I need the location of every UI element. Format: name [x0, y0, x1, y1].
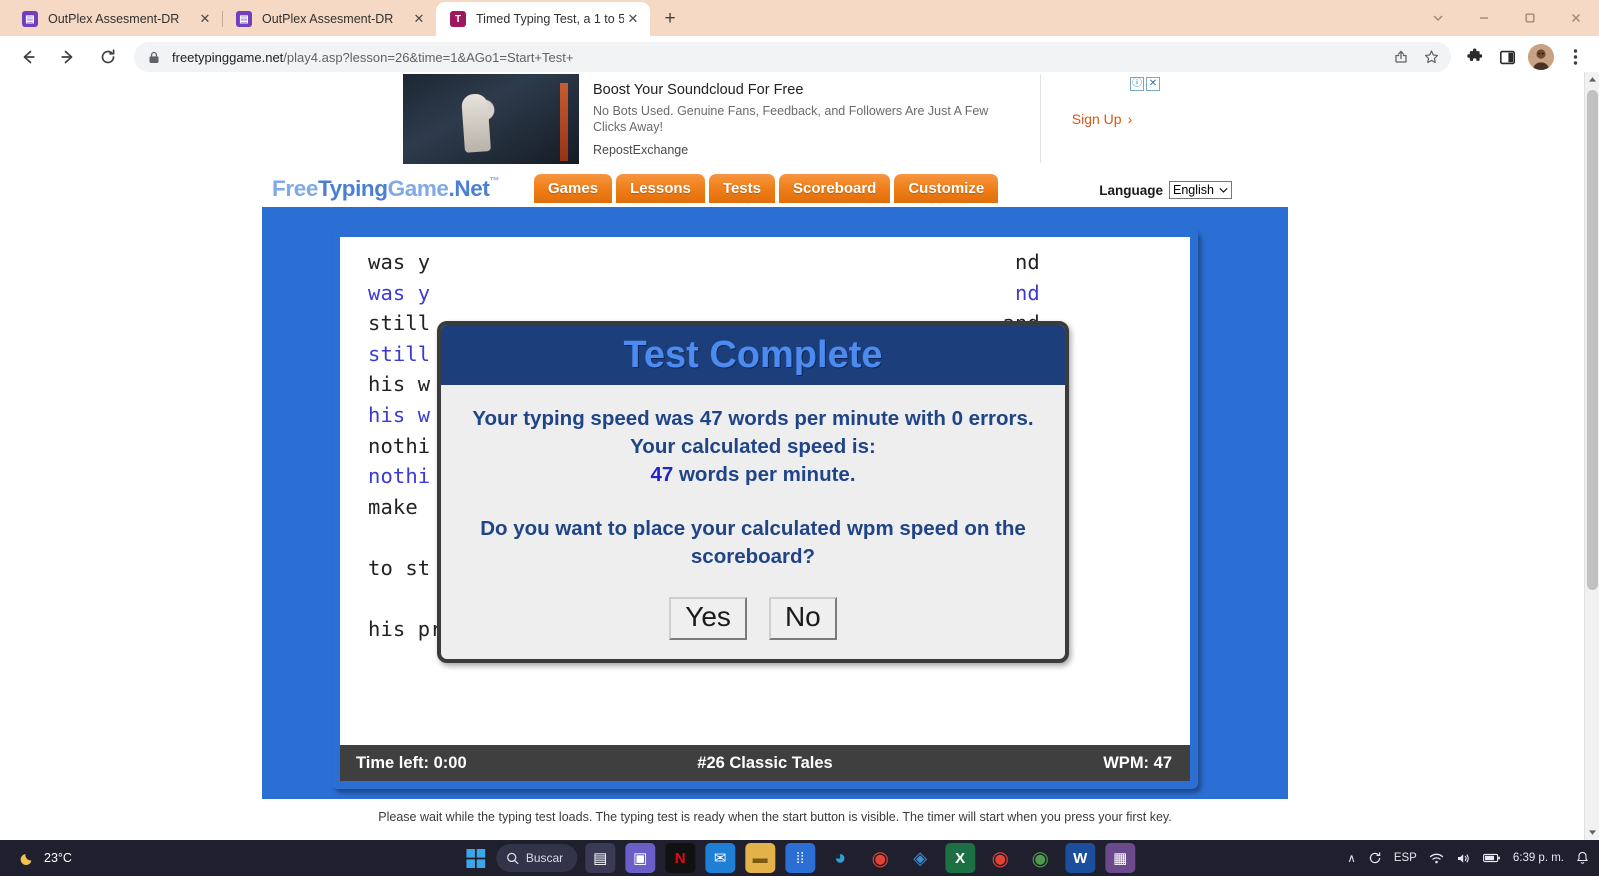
ad-close-icon[interactable]: ✕: [1146, 77, 1160, 91]
tab-close-icon[interactable]: ✕: [410, 10, 428, 28]
chrome-profile1-icon[interactable]: ◉: [985, 843, 1015, 873]
tab-title: OutPlex Assesment-DR: [48, 12, 196, 26]
ad-headline: Boost Your Soundcloud For Free: [593, 82, 1028, 98]
search-icon: [506, 852, 519, 865]
dialog-question: Do you want to place your calculated wpm…: [463, 515, 1043, 571]
scroll-up-arrow-icon[interactable]: [1585, 72, 1599, 87]
notification-bell-icon[interactable]: [1576, 851, 1589, 865]
lesson-label: #26 Classic Tales: [621, 754, 910, 773]
url-domain: freetypinggame.net: [172, 50, 283, 65]
browser-tab-1[interactable]: ▤ OutPlex Assesment-DR ✕: [8, 2, 222, 36]
language-dropdown[interactable]: English: [1169, 181, 1232, 199]
logo-part-2: Typing: [318, 176, 388, 201]
reload-icon[interactable]: [91, 40, 125, 74]
outplex-icon: ▤: [236, 11, 252, 27]
sync-icon[interactable]: [1368, 851, 1382, 865]
nav-tab-games[interactable]: Games: [534, 174, 612, 203]
typing-line-typed: was y nd: [368, 281, 1040, 305]
windows-taskbar: 23°C Buscar ▤ ▣ N ✉ ▬ ⁞⁞ ◕ ◉ ◈ X ◉ ◉: [0, 840, 1599, 876]
taskbar-clock[interactable]: 6:39 p. m.: [1513, 852, 1564, 865]
yes-button[interactable]: Yes: [669, 597, 747, 640]
battery-icon[interactable]: [1483, 852, 1501, 864]
extensions-puzzle-icon[interactable]: [1459, 40, 1491, 74]
mail-icon[interactable]: ✉: [705, 843, 735, 873]
no-button[interactable]: No: [769, 597, 837, 640]
language-selector: Language English: [1099, 181, 1232, 199]
ad-description: No Bots Used. Genuine Fans, Feedback, an…: [593, 103, 1013, 135]
nav-tab-scoreboard[interactable]: Scoreboard: [779, 174, 890, 203]
three-dot-menu-icon[interactable]: [1559, 40, 1591, 74]
url-text: freetypinggame.net/play4.asp?lesson=26&t…: [172, 50, 573, 65]
ad-cta-label: Sign Up: [1072, 111, 1122, 127]
file-explorer-icon[interactable]: ▤: [585, 843, 615, 873]
site-header: FreeTypingGame.Net™ Games Lessons Tests …: [262, 168, 1288, 211]
typing-icon: T: [450, 11, 466, 27]
taskbar-weather[interactable]: 23°C: [0, 850, 72, 866]
browser-tab-2[interactable]: ▤ OutPlex Assesment-DR ✕: [222, 2, 436, 36]
logo-part-3: Game: [388, 176, 449, 201]
share-icon[interactable]: [1387, 43, 1415, 71]
chrome-profile2-icon[interactable]: ◉: [1025, 843, 1055, 873]
photos-icon[interactable]: ◈: [905, 843, 935, 873]
language-selected-value: English: [1173, 183, 1214, 197]
back-arrow-icon[interactable]: [11, 40, 45, 74]
chevron-right-icon: ›: [1128, 111, 1133, 127]
star-icon[interactable]: [1417, 43, 1445, 71]
tab-strip: ▤ OutPlex Assesment-DR ✕ ▤ OutPlex Asses…: [0, 0, 1599, 36]
chrome-icon[interactable]: ◉: [865, 843, 895, 873]
ad-badges: ⓘ ✕: [1130, 77, 1160, 91]
chevron-down-icon: [1219, 187, 1228, 194]
dialog-wpm-value: 47: [700, 407, 723, 430]
url-path: /play4.asp?lesson=26&time=1&AGo1=Start+T…: [283, 50, 573, 65]
typing-status-bar: Time left: 0:00 #26 Classic Tales WPM: 4…: [340, 745, 1190, 781]
side-panel-icon[interactable]: [1491, 40, 1523, 74]
tray-overflow-icon[interactable]: ∧: [1347, 851, 1355, 865]
nav-tab-tests[interactable]: Tests: [709, 174, 775, 203]
netflix-icon[interactable]: N: [665, 843, 695, 873]
test-complete-dialog: Test Complete Your typing speed was 47 w…: [437, 321, 1069, 663]
maximize-icon[interactable]: [1507, 0, 1553, 36]
nav-tab-lessons[interactable]: Lessons: [616, 174, 705, 203]
browser-tab-3-active[interactable]: T Timed Typing Test, a 1 to 5 minut ✕: [436, 2, 650, 36]
typing-line: was y nd: [368, 250, 1040, 274]
logo-part-4: .Net: [449, 176, 490, 201]
logo-part-1: Free: [272, 176, 318, 201]
wait-note: Please wait while the typing test loads.…: [262, 810, 1288, 824]
windows-start-icon[interactable]: [462, 844, 490, 872]
nav-tab-customize[interactable]: Customize: [894, 174, 998, 203]
wpm-label: WPM: 47: [910, 754, 1191, 773]
dialog-calculated-suffix: words per minute.: [673, 463, 855, 486]
logo-trademark: ™: [489, 176, 499, 187]
calculator-icon[interactable]: ▦: [1105, 843, 1135, 873]
omnibox-actions: [1387, 43, 1445, 71]
dialog-body: Your typing speed was 47 words per minut…: [441, 385, 1065, 640]
search-placeholder: Buscar: [526, 851, 563, 865]
profile-avatar[interactable]: [1528, 44, 1554, 70]
volume-icon[interactable]: [1456, 852, 1471, 865]
tab-search-icon[interactable]: [1415, 0, 1461, 36]
wifi-icon[interactable]: [1429, 852, 1444, 865]
minimize-icon[interactable]: [1461, 0, 1507, 36]
apps-grid-icon[interactable]: ⁞⁞: [785, 843, 815, 873]
tab-close-icon[interactable]: ✕: [196, 10, 214, 28]
taskbar-center: Buscar ▤ ▣ N ✉ ▬ ⁞⁞ ◕ ◉ ◈ X ◉ ◉ W ▦: [462, 843, 1137, 873]
taskbar-search-box[interactable]: Buscar: [496, 844, 577, 872]
scrollbar-thumb[interactable]: [1587, 90, 1598, 590]
ad-text-block: Boost Your Soundcloud For Free No Bots U…: [579, 74, 1040, 163]
time-left-label: Time left: 0:00: [340, 754, 621, 773]
site-nav-tabs: Games Lessons Tests Scoreboard Customize: [534, 174, 998, 203]
site-logo[interactable]: FreeTypingGame.Net™: [272, 176, 499, 202]
folder-icon[interactable]: ▬: [745, 843, 775, 873]
page-scrollbar[interactable]: [1584, 72, 1599, 840]
lock-icon: [146, 49, 162, 65]
nav-bottom-rule: [262, 207, 1288, 213]
dialog-result-line: Your typing speed was 47 words per minut…: [463, 405, 1043, 461]
dialog-text-mid: words per minute with: [723, 407, 952, 430]
dialog-text-pre: Your typing speed was: [472, 407, 699, 430]
taskbar-tray: ∧ ESP 6:39 p. m.: [1347, 851, 1589, 865]
tab-close-icon[interactable]: ✕: [624, 10, 642, 28]
language-indicator[interactable]: ESP: [1394, 852, 1417, 864]
dialog-calculated-line: 47 words per minute.: [463, 461, 1043, 489]
page-viewport: Boost Your Soundcloud For Free No Bots U…: [0, 72, 1599, 840]
outplex-icon: ▤: [22, 11, 38, 27]
dialog-buttons: Yes No: [463, 597, 1043, 640]
dialog-calculated-wpm: 47: [650, 463, 673, 486]
weather-temp: 23°C: [44, 851, 72, 865]
window-controls: [1415, 0, 1599, 36]
dialog-title: Test Complete: [441, 325, 1065, 385]
moon-icon: [20, 850, 36, 866]
address-bar[interactable]: freetypinggame.net/play4.asp?lesson=26&t…: [134, 42, 1451, 72]
dialog-errors-value: 0: [952, 407, 963, 430]
teams-icon[interactable]: ▣: [625, 843, 655, 873]
ad-image: [403, 74, 579, 164]
scroll-down-arrow-icon[interactable]: [1585, 825, 1599, 840]
ad-brand: RepostExchange: [593, 143, 1028, 157]
ad-info-icon[interactable]: ⓘ: [1130, 77, 1144, 91]
excel-icon[interactable]: X: [945, 843, 975, 873]
tab-title: OutPlex Assesment-DR: [262, 12, 410, 26]
ad-banner[interactable]: Boost Your Soundcloud For Free No Bots U…: [403, 74, 1163, 164]
language-label: Language: [1099, 183, 1163, 198]
tab-title: Timed Typing Test, a 1 to 5 minut: [476, 12, 624, 26]
forward-arrow-icon[interactable]: [51, 40, 85, 74]
close-icon[interactable]: [1553, 0, 1599, 36]
edge-icon[interactable]: ◕: [825, 843, 855, 873]
browser-window: ▤ OutPlex Assesment-DR ✕ ▤ OutPlex Asses…: [0, 0, 1599, 876]
word-icon[interactable]: W: [1065, 843, 1095, 873]
new-tab-button[interactable]: +: [656, 5, 684, 33]
